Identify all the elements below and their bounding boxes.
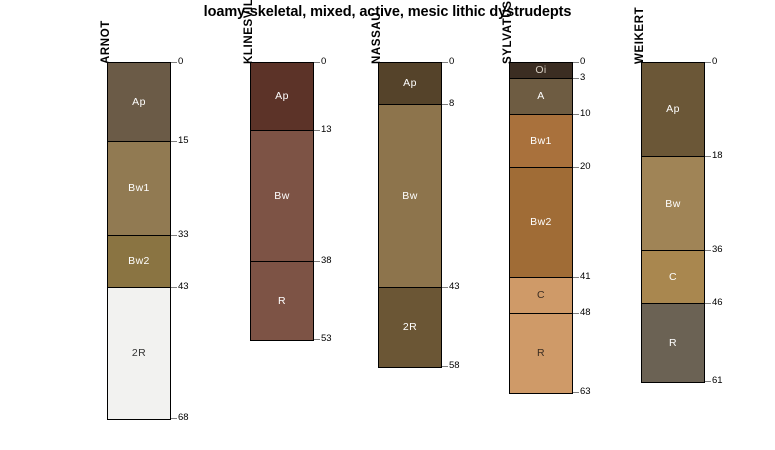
depth-tick xyxy=(705,250,711,251)
depth-tick xyxy=(705,381,711,382)
depth-label: 43 xyxy=(178,282,189,292)
horizon-bw1: Bw1 xyxy=(510,115,572,167)
depth-tick xyxy=(314,130,320,131)
profile-name-label: WEIKERT xyxy=(634,7,646,64)
depth-tick xyxy=(573,392,579,393)
depth-tick xyxy=(314,339,320,340)
horizon-label: 2R xyxy=(403,322,417,333)
depth-label: 43 xyxy=(449,282,460,292)
profile-column: ApBw2R xyxy=(378,62,442,368)
horizon-label: R xyxy=(537,348,545,359)
depth-tick xyxy=(573,114,579,115)
depth-tick xyxy=(314,261,320,262)
profile-column: OiABw1Bw2CR xyxy=(509,62,573,394)
depth-tick xyxy=(442,62,448,63)
depth-label: 13 xyxy=(321,125,332,135)
horizon-oi: Oi xyxy=(510,63,572,79)
depth-label: 61 xyxy=(712,376,723,386)
depth-tick xyxy=(573,78,579,79)
depth-label: 15 xyxy=(178,136,189,146)
horizon-bw1: Bw1 xyxy=(108,142,170,236)
depth-label: 46 xyxy=(712,298,723,308)
depth-label: 41 xyxy=(580,272,591,282)
horizon-label: A xyxy=(537,91,544,102)
depth-label: 63 xyxy=(580,387,591,397)
horizon-label: Bw1 xyxy=(128,183,150,194)
depth-tick xyxy=(171,235,177,236)
depth-tick xyxy=(573,313,579,314)
depth-label: 48 xyxy=(580,308,591,318)
horizon-r: R xyxy=(642,304,704,383)
depth-label: 0 xyxy=(321,57,326,67)
depth-label: 68 xyxy=(178,413,189,423)
horizon-label: Oi xyxy=(535,65,546,76)
profile-name-label: KLINESVILLE xyxy=(243,0,255,64)
depth-tick xyxy=(171,62,177,63)
depth-label: 18 xyxy=(712,151,723,161)
depth-tick xyxy=(573,277,579,278)
depth-tick xyxy=(171,141,177,142)
depth-label: 3 xyxy=(580,73,585,83)
profile-column: ApBw1Bw22R xyxy=(107,62,171,420)
horizon-c: C xyxy=(642,251,704,303)
depth-label: 33 xyxy=(178,230,189,240)
horizon-bw: Bw xyxy=(251,131,313,262)
profile-name-label: ARNOT xyxy=(100,20,112,64)
soil-profile-chart: ARNOTApBw1Bw22R015334368KLINESVILLEApBwR… xyxy=(0,0,775,450)
horizon-label: Bw2 xyxy=(530,217,552,228)
horizon-label: Bw2 xyxy=(128,256,150,267)
depth-tick xyxy=(573,167,579,168)
horizon-label: C xyxy=(537,290,545,301)
depth-tick xyxy=(442,104,448,105)
horizon-label: C xyxy=(669,272,677,283)
horizon-label: Ap xyxy=(275,91,289,102)
horizon-label: R xyxy=(278,296,286,307)
horizon-label: Bw1 xyxy=(530,136,552,147)
horizon-bw2: Bw2 xyxy=(510,168,572,278)
depth-label: 53 xyxy=(321,334,332,344)
depth-label: 38 xyxy=(321,256,332,266)
depth-tick xyxy=(314,62,320,63)
depth-tick xyxy=(171,418,177,419)
horizon-label: Ap xyxy=(666,104,680,115)
horizon-ap: Ap xyxy=(251,63,313,131)
depth-tick xyxy=(705,156,711,157)
depth-label: 58 xyxy=(449,361,460,371)
depth-label: 20 xyxy=(580,162,591,172)
depth-tick xyxy=(705,303,711,304)
depth-tick xyxy=(705,62,711,63)
horizon-c: C xyxy=(510,278,572,315)
depth-label: 0 xyxy=(580,57,585,67)
profile-name-label: SYLVATUS xyxy=(502,0,514,64)
horizon-label: R xyxy=(669,338,677,349)
horizon-ap: Ap xyxy=(108,63,170,142)
horizon-label: Bw xyxy=(274,191,289,202)
horizon-2r: 2R xyxy=(108,288,170,419)
horizon-label: Ap xyxy=(132,97,146,108)
horizon-2r: 2R xyxy=(379,288,441,367)
horizon-label: 2R xyxy=(132,348,146,359)
horizon-r: R xyxy=(251,262,313,341)
horizon-ap: Ap xyxy=(379,63,441,105)
depth-tick xyxy=(573,62,579,63)
horizon-label: Ap xyxy=(403,78,417,89)
depth-label: 36 xyxy=(712,245,723,255)
depth-label: 0 xyxy=(712,57,717,67)
profile-column: ApBwR xyxy=(250,62,314,341)
horizon-r: R xyxy=(510,314,572,393)
depth-label: 0 xyxy=(178,57,183,67)
depth-label: 10 xyxy=(580,109,591,119)
horizon-label: Bw xyxy=(402,191,417,202)
horizon-a: A xyxy=(510,79,572,116)
depth-label: 0 xyxy=(449,57,454,67)
profile-column: ApBwCR xyxy=(641,62,705,383)
horizon-label: Bw xyxy=(665,199,680,210)
profile-name-label: NASSAU xyxy=(371,12,383,64)
depth-tick xyxy=(171,287,177,288)
depth-tick xyxy=(442,366,448,367)
horizon-ap: Ap xyxy=(642,63,704,157)
depth-label: 8 xyxy=(449,99,454,109)
horizon-bw: Bw xyxy=(642,157,704,251)
horizon-bw2: Bw2 xyxy=(108,236,170,288)
horizon-bw: Bw xyxy=(379,105,441,288)
depth-tick xyxy=(442,287,448,288)
